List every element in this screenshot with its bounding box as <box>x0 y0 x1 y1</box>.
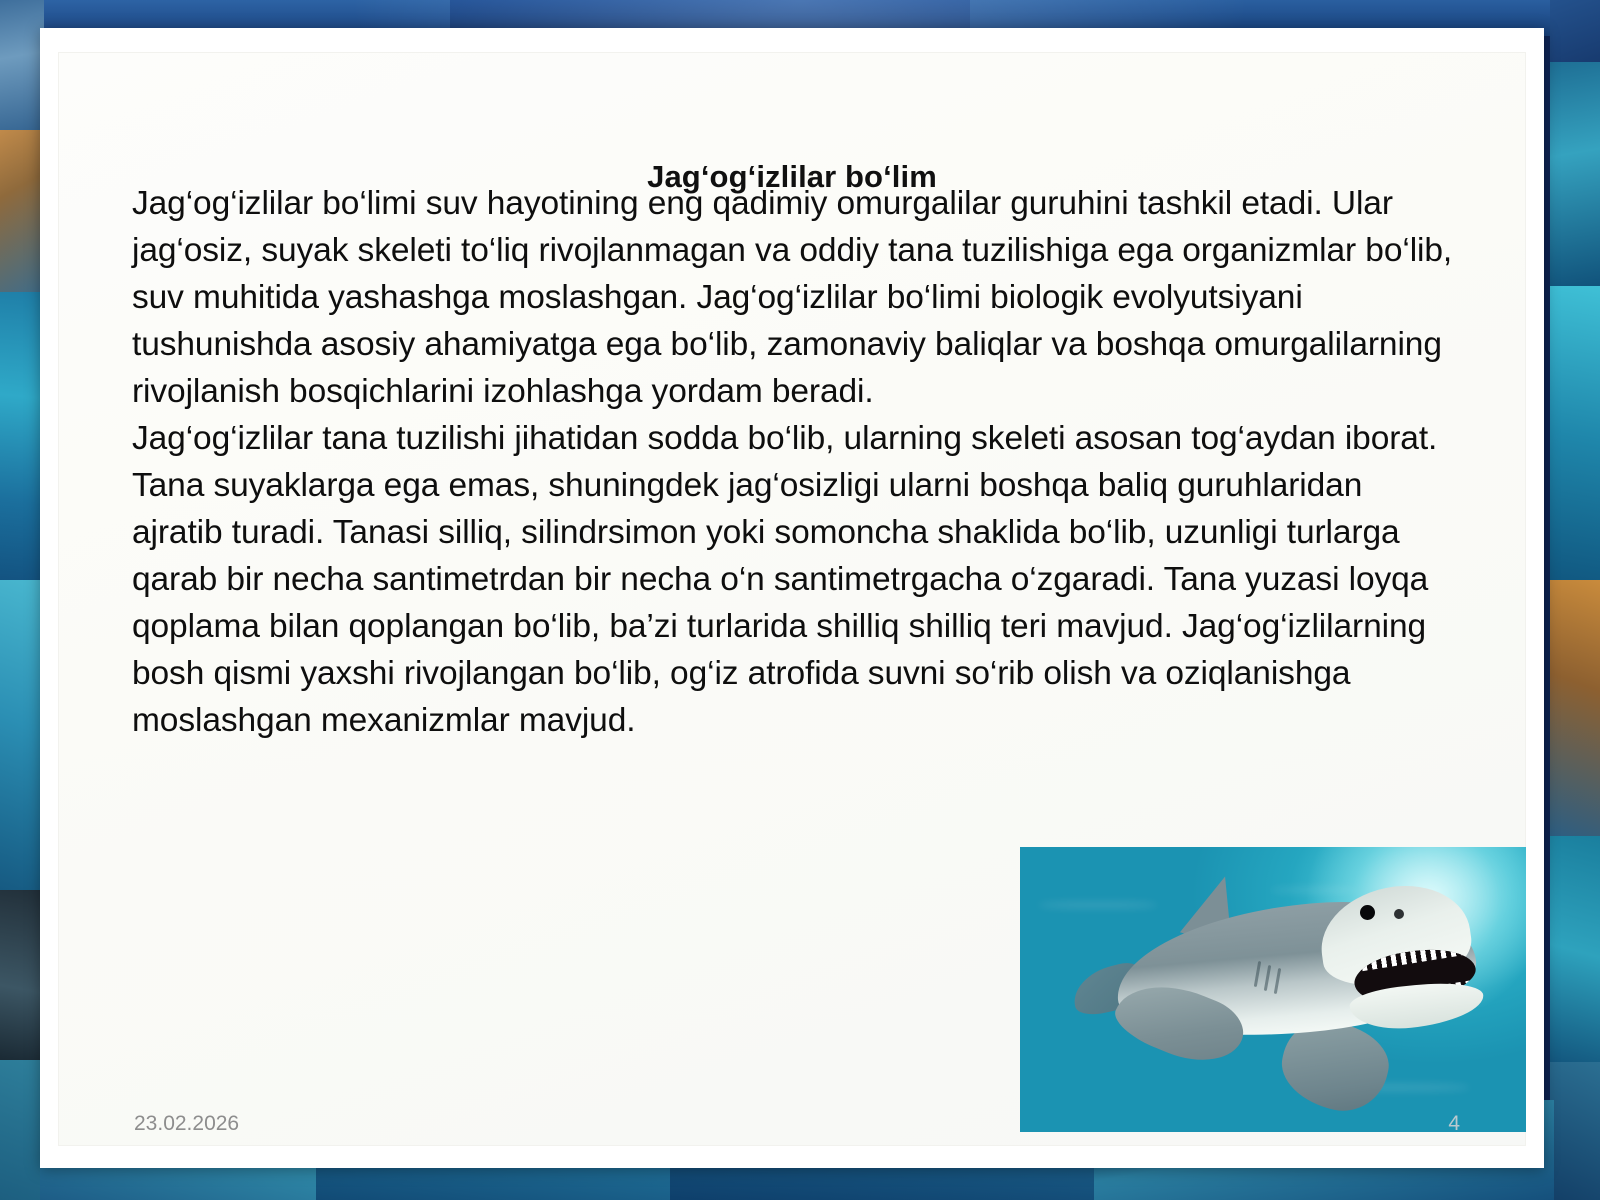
background-tile-left-2 <box>0 130 44 300</box>
background-tile-left-1 <box>0 0 44 140</box>
slide-content-surface: Jag‘og‘izlilar bo‘lim Jag‘og‘izlilar bo‘… <box>58 52 1526 1146</box>
slide-content-card: Jag‘og‘izlilar bo‘lim Jag‘og‘izlilar bo‘… <box>40 28 1544 1168</box>
background-tile-right-6 <box>1550 1062 1600 1200</box>
slide-body-text: Jag‘og‘izlilar bo‘limi suv hayotining en… <box>132 180 1456 744</box>
background-tile-left-5 <box>0 890 44 1070</box>
shark-nostril <box>1394 909 1404 919</box>
background-tile-right-3 <box>1550 286 1600 586</box>
body-paragraph-2: Jag‘og‘izlilar tana tuzilishi jihatidan … <box>132 415 1456 744</box>
body-paragraph-1: Jag‘og‘izlilar bo‘limi suv hayotining en… <box>132 180 1456 415</box>
shark-eye <box>1360 905 1375 920</box>
background-tile-right-2 <box>1550 62 1600 292</box>
shark-photo[interactable] <box>1020 847 1526 1132</box>
background-tile-right-1 <box>1550 0 1600 70</box>
background-tile-right-5 <box>1550 836 1600 1066</box>
footer-page-number: 4 <box>1448 1112 1460 1136</box>
shark-illustration <box>1020 847 1526 1132</box>
background-tile-left-4 <box>0 580 44 900</box>
footer-date: 23.02.2026 <box>134 1112 239 1136</box>
background-tile-left-6 <box>0 1060 44 1200</box>
background-tile-left-3 <box>0 292 44 592</box>
presentation-slide: Jag‘og‘izlilar bo‘lim Jag‘og‘izlilar bo‘… <box>0 0 1600 1200</box>
background-tile-right-4 <box>1550 580 1600 840</box>
